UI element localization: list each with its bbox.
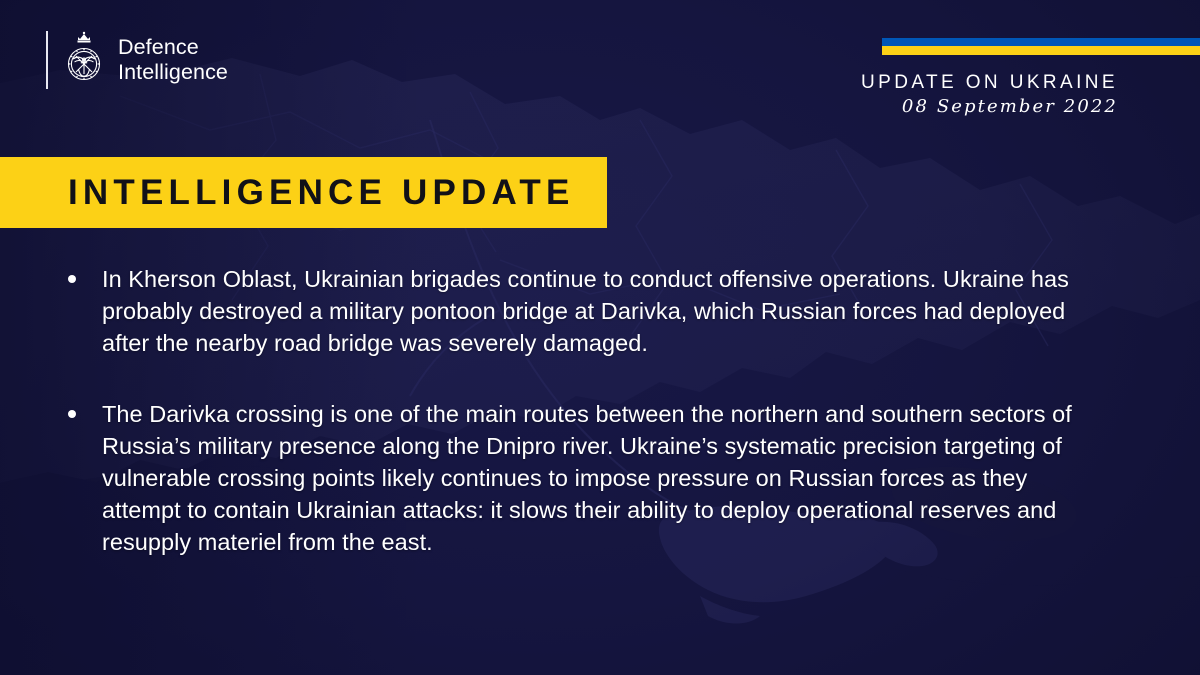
brand-line-intelligence: Intelligence — [118, 60, 228, 85]
banner-title: INTELLIGENCE UPDATE — [68, 173, 575, 213]
bullet-item: In Kherson Oblast, Ukrainian brigades co… — [62, 263, 1072, 360]
defence-intelligence-crest-icon — [64, 31, 104, 89]
intelligence-update-banner: INTELLIGENCE UPDATE — [0, 157, 607, 228]
brand-divider — [46, 31, 48, 89]
update-kicker: UPDATE ON UKRAINE — [861, 72, 1118, 94]
intelligence-update-poster: Defence Intelligence UPDATE ON UKRAINE 0… — [0, 0, 1200, 675]
ukraine-flag-bar-icon — [882, 38, 1200, 55]
update-date: 08 September 2022 — [861, 95, 1118, 118]
brand-line-defence: Defence — [118, 35, 228, 60]
flag-stripe-blue — [882, 38, 1200, 46]
bullet-dot-icon — [68, 410, 76, 418]
bullet-item: The Darivka crossing is one of the main … — [62, 398, 1072, 559]
header-title-group: UPDATE ON UKRAINE 08 September 2022 — [861, 72, 1118, 118]
bullet-dot-icon — [68, 275, 76, 283]
bullet-list: In Kherson Oblast, Ukrainian brigades co… — [62, 263, 1072, 559]
bullet-text: The Darivka crossing is one of the main … — [102, 401, 1072, 556]
flag-stripe-yellow — [882, 46, 1200, 55]
brand-lockup: Defence Intelligence — [46, 31, 228, 89]
brand-wordmark: Defence Intelligence — [118, 35, 228, 85]
bullet-text: In Kherson Oblast, Ukrainian brigades co… — [102, 266, 1069, 356]
